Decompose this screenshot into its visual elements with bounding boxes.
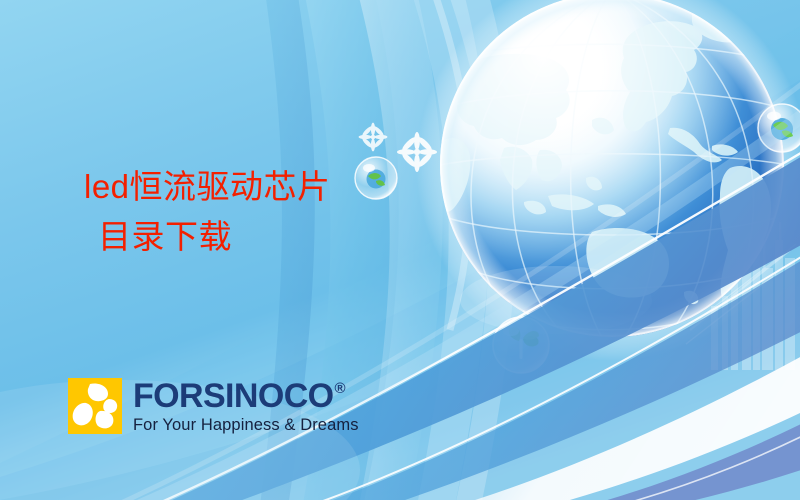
brand-wordmark: FORSINOCO ® — [133, 379, 359, 413]
headline-line-2: 目录下载 — [84, 212, 414, 262]
banner-image: led恒流驱动芯片 目录下载 FORSINOCO ® — [0, 0, 800, 500]
headline: led恒流驱动芯片 目录下载 — [84, 162, 414, 262]
four-petal-pinwheel-icon — [68, 378, 122, 434]
registered-mark-icon: ® — [335, 381, 345, 396]
headline-line-1: led恒流驱动芯片 — [84, 162, 414, 212]
brand-logo[interactable]: FORSINOCO ® For Your Happiness & Dreams — [68, 378, 359, 434]
brand-tagline: For Your Happiness & Dreams — [133, 417, 359, 434]
brand-text: FORSINOCO ® For Your Happiness & Dreams — [133, 379, 359, 434]
brand-name: FORSINOCO — [133, 379, 334, 413]
